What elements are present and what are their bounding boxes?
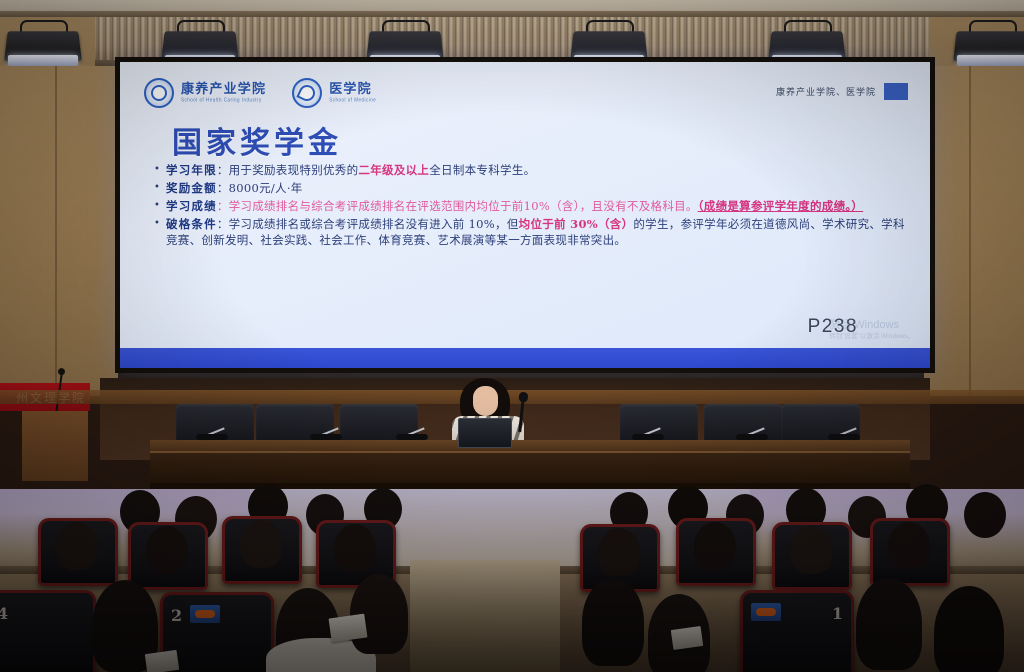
audience-head <box>934 586 1004 672</box>
audience-area: 4 2 1 <box>0 470 1024 672</box>
bullet-segment-1: 破格条件 <box>166 217 217 231</box>
slide-title: 国家奖学金 <box>172 118 342 162</box>
wall-seam <box>969 66 971 396</box>
watermark-line-1: 激活 Windows <box>829 320 914 331</box>
notebook <box>329 614 368 643</box>
wall-right <box>924 66 1024 396</box>
audience-head <box>694 522 736 570</box>
slide-bullet-3: •学习成绩：学习成绩排名与综合考评成绩排名在评选范围内均位于前10%（含），且没… <box>154 198 910 214</box>
ceiling-slab <box>0 0 1024 17</box>
table-microphone-3 <box>396 425 430 440</box>
windows-activation-watermark: 激活 Windows 转到"设置"以激活 Windows。 <box>829 320 914 342</box>
audience-head <box>56 522 98 570</box>
audience-head <box>964 492 1006 538</box>
slide-accent-bar <box>120 348 930 368</box>
presenter-laptop <box>458 418 512 448</box>
bullet-dot-icon: • <box>154 198 166 214</box>
slide-bullet-2: •奖励金额：8000元/人·年 <box>154 180 910 196</box>
logo-school-of-medicine: 医学院 School of Medicine <box>292 78 376 108</box>
notebook <box>145 650 179 672</box>
bullet-segment-3: 二年级及以上 <box>358 163 429 177</box>
audience-head <box>888 522 930 570</box>
logo-name-cn: 医学院 <box>329 83 376 97</box>
bullet-dot-icon: • <box>154 162 166 178</box>
logo-name-cn: 康养产业学院 <box>181 83 266 97</box>
seat-badge-icon <box>751 603 781 621</box>
bullet-text: 奖励金额：8000元/人·年 <box>166 180 910 196</box>
bullet-segment-3: 均位于前 30%（含） <box>519 217 634 231</box>
wall-left <box>0 66 118 396</box>
bullet-segment-2: ：学习成绩排名与综合考评成绩排名在评选范围内均位于前10%（含），且没有不及格科… <box>217 199 698 213</box>
slide-bullet-list: •学习年限：用于奖励表现特别优秀的二年级及以上全日制本专科学生。•奖励金额：80… <box>154 162 910 250</box>
slide-corner-tag: 康养产业学院、医学院 <box>768 82 908 101</box>
bullet-segment-4: 全日制本专科学生。 <box>429 163 535 177</box>
swirl-icon <box>292 78 322 108</box>
projection-screen: 康养产业学院 School of Health Caring Industry … <box>115 57 935 373</box>
bullet-text: 学习成绩：学习成绩排名与综合考评成绩排名在评选范围内均位于前10%（含），且没有… <box>166 198 910 214</box>
seat-number: 4 <box>0 604 8 623</box>
presenter-face <box>473 386 498 416</box>
bullet-dot-icon: • <box>154 180 166 196</box>
bullet-segment-1: 学习年限 <box>166 163 217 177</box>
auditorium-scene: 康养产业学院 School of Health Caring Industry … <box>0 0 1024 672</box>
slide-bullet-4: •破格条件：学习成绩排名或综合考评成绩排名没有进入前 10%，但均位于前 30%… <box>154 216 910 248</box>
notebook <box>671 626 703 650</box>
bullet-text: 破格条件：学习成绩排名或综合考评成绩排名没有进入前 10%，但均位于前 30%（… <box>166 216 910 248</box>
audience-head <box>334 524 376 572</box>
table-microphone-2 <box>310 425 344 440</box>
slide-logo-row: 康养产业学院 School of Health Caring Industry … <box>144 78 376 108</box>
mic-base <box>736 434 768 440</box>
seat-number: 1 <box>832 604 843 623</box>
wall-seam <box>55 66 57 396</box>
audience-head <box>856 578 922 670</box>
table-microphone-4 <box>632 425 666 440</box>
light-lens <box>957 55 1024 66</box>
bullet-segment-2: ：学习成绩排名或综合考评成绩排名没有进入前 10%，但 <box>217 217 519 231</box>
light-lens <box>8 55 78 66</box>
table-microphone-5 <box>736 425 770 440</box>
watermark-line-2: 转到"设置"以激活 Windows。 <box>829 331 914 342</box>
audience-head <box>598 528 640 576</box>
mic-base <box>396 434 428 440</box>
corner-tag-square <box>884 83 908 100</box>
bullet-segment-1: 学习成绩 <box>166 199 217 213</box>
bullet-dot-icon: • <box>154 216 166 232</box>
bullet-segment-3: （成绩是算参评学年度的成绩。） <box>698 199 864 213</box>
audience-head <box>146 526 188 574</box>
seal-icon <box>144 78 174 108</box>
logo-health-caring-industry: 康养产业学院 School of Health Caring Industry <box>144 78 266 108</box>
table-microphone-1 <box>196 425 230 440</box>
seat-badge-icon <box>190 605 220 623</box>
corner-tag-label: 康养产业学院、医学院 <box>768 82 884 101</box>
mic-base <box>196 434 228 440</box>
logo-name-en: School of Medicine <box>329 98 376 103</box>
audience-seat-4: 4 <box>0 590 96 672</box>
slide-bullet-1: •学习年限：用于奖励表现特别优秀的二年级及以上全日制本专科学生。 <box>154 162 910 178</box>
bullet-segment-2: ：8000元/人·年 <box>217 181 303 195</box>
audience-head <box>240 520 282 568</box>
mic-base <box>632 434 664 440</box>
mic-base <box>310 434 342 440</box>
logo-name-en: School of Health Caring Industry <box>181 98 266 103</box>
presentation-slide: 康养产业学院 School of Health Caring Industry … <box>120 62 930 368</box>
seat-number: 2 <box>171 606 182 625</box>
audience-head <box>790 526 832 574</box>
bullet-segment-2: ：用于奖励表现特别优秀的 <box>217 163 359 177</box>
bullet-segment-1: 奖励金额 <box>166 181 217 195</box>
mic-base <box>828 434 860 440</box>
table-microphone-6 <box>828 425 862 440</box>
audience-seat-1: 1 <box>740 590 854 672</box>
audience-head <box>582 578 644 666</box>
bullet-text: 学习年限：用于奖励表现特别优秀的二年级及以上全日制本专科学生。 <box>166 162 910 178</box>
